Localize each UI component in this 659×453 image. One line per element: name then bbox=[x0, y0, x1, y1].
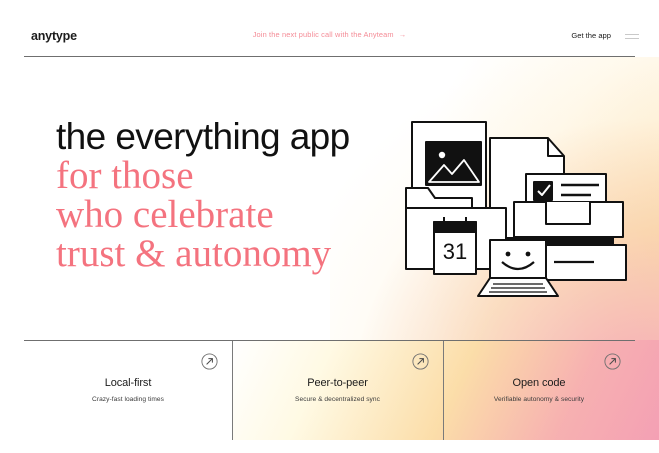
landing-page: anytype Join the next public call with t… bbox=[0, 0, 659, 453]
feature-card-title: Open code bbox=[443, 377, 635, 389]
smiley-eye-left bbox=[506, 252, 511, 257]
feature-card-peer-to-peer[interactable]: Peer-to-peer Secure & decentralized sync bbox=[232, 341, 443, 440]
announcement-banner-link[interactable]: Join the next public call with the Anyte… bbox=[0, 30, 659, 39]
arrow-right-icon: → bbox=[399, 30, 407, 39]
feature-card-local-first[interactable]: Local-first Crazy-fast loading times bbox=[24, 341, 232, 440]
arrow-up-right-circle-icon[interactable] bbox=[604, 353, 621, 370]
feature-card-subtitle: Verifiable autonomy & security bbox=[443, 396, 635, 403]
headline-line-4: trust & autonomy bbox=[56, 234, 350, 273]
feature-card-subtitle: Crazy-fast loading times bbox=[24, 396, 232, 403]
hamburger-menu-icon[interactable] bbox=[625, 34, 639, 42]
menu-bar-2 bbox=[625, 38, 639, 39]
hero-section: the everything app for those who celebra… bbox=[0, 57, 659, 340]
announcement-text: Join the next public call with the Anyte… bbox=[253, 30, 394, 39]
site-header: anytype Join the next public call with t… bbox=[0, 0, 659, 57]
feature-cards-section: Local-first Crazy-fast loading times Pee… bbox=[0, 340, 659, 453]
feature-card-subtitle: Secure & decentralized sync bbox=[232, 396, 443, 403]
arrow-up-right-circle-icon[interactable] bbox=[201, 353, 218, 370]
calendar-day-number: 31 bbox=[443, 239, 467, 264]
headline-line-3: who celebrate bbox=[56, 195, 350, 234]
isometric-workspace-illustration: 31 bbox=[398, 112, 633, 307]
headline-line-2: for those bbox=[56, 156, 350, 195]
laptop-screen bbox=[490, 240, 546, 278]
laptop-base bbox=[478, 278, 558, 296]
get-the-app-link[interactable]: Get the app bbox=[571, 31, 611, 40]
menu-bar-1 bbox=[625, 34, 639, 35]
page-title: the everything app for those who celebra… bbox=[56, 117, 350, 273]
feature-card-title: Local-first bbox=[24, 377, 232, 389]
headline-line-1: the everything app bbox=[56, 117, 350, 156]
feature-card-open-code[interactable]: Open code Verifiable autonomy & security bbox=[443, 341, 635, 440]
smiley-eye-right bbox=[526, 252, 531, 257]
tray-notch bbox=[546, 202, 590, 224]
feature-card-title: Peer-to-peer bbox=[232, 377, 443, 389]
sun-dot bbox=[439, 152, 445, 158]
arrow-up-right-circle-icon[interactable] bbox=[412, 353, 429, 370]
calendar-header bbox=[434, 222, 476, 232]
